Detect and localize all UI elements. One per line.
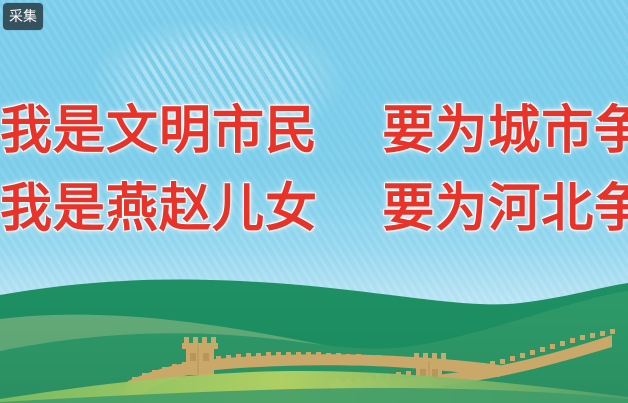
slogan-line-2-left: 我是燕赵儿女	[0, 170, 318, 248]
capture-button[interactable]: 采集	[3, 3, 43, 30]
slogan-line-2: 我是燕赵儿女 要为河北争气	[0, 170, 628, 248]
landscape-illustration	[0, 273, 628, 403]
slogan-line-2-right: 要为河北争气	[382, 170, 628, 248]
landscape-svg	[0, 273, 628, 403]
slogan-line-1-left: 我是文明市民	[0, 92, 318, 170]
capture-button-label: 采集	[9, 10, 37, 24]
slogan-line-1: 我是文明市民 要为城市争光	[0, 92, 628, 170]
slogan-line-1-right: 要为城市争光	[382, 92, 628, 170]
watchtower-left	[182, 337, 218, 377]
slogan-block: 我是文明市民 要为城市争光 我是燕赵儿女 要为河北争气	[0, 92, 628, 248]
banner-stage: 我是文明市民 要为城市争光 我是燕赵儿女 要为河北争气 采集	[0, 0, 628, 403]
